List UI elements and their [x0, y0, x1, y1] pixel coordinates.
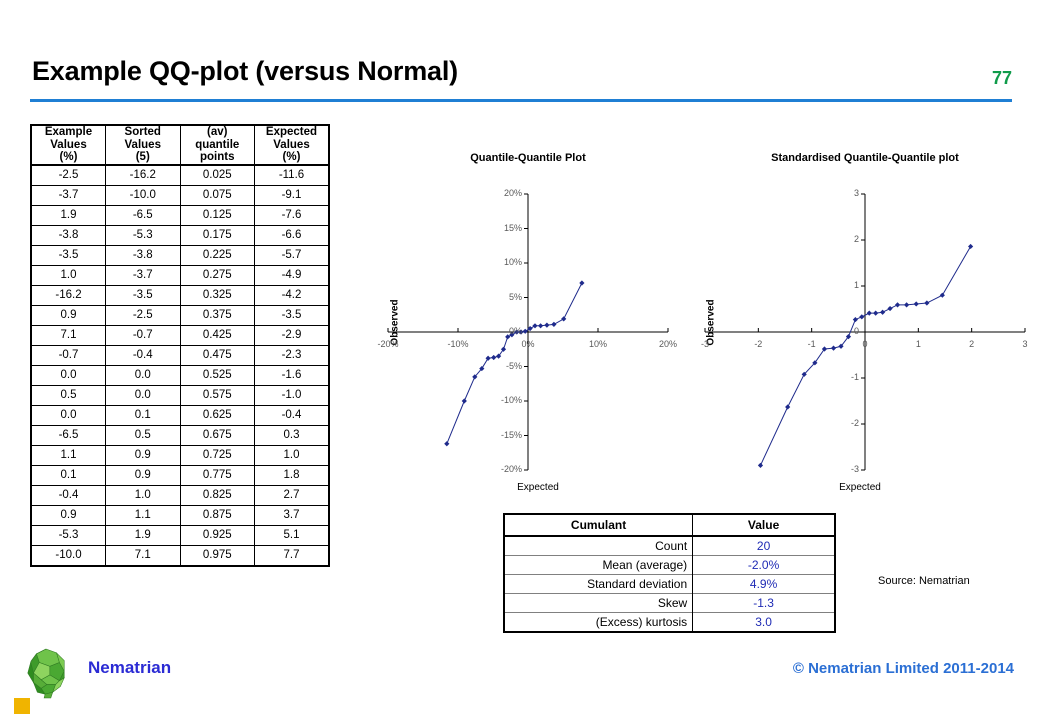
- data-point-marker: [462, 398, 467, 403]
- table-cell: -0.4: [106, 345, 181, 365]
- data-point-marker: [904, 302, 909, 307]
- table-cell: 0.825: [180, 485, 255, 505]
- table-cell: -4.9: [255, 265, 330, 285]
- footer-brand: Nematrian: [88, 658, 171, 678]
- cumulant-name: Skew: [504, 594, 693, 613]
- table-cell: 7.7: [255, 545, 330, 566]
- y-tick-label: 20%: [488, 188, 522, 198]
- y-tick-label: 1: [825, 280, 859, 290]
- table-row: 0.91.10.8753.7: [31, 505, 329, 525]
- table-cell: 0.725: [180, 445, 255, 465]
- x-tick-label: 0: [843, 339, 887, 349]
- source-note: Source: Nematrian: [878, 575, 970, 587]
- y-tick-label: 0%: [488, 326, 522, 336]
- data-point-marker: [444, 441, 449, 446]
- table-cell: -0.4: [255, 405, 330, 425]
- x-tick-label: 2: [950, 339, 994, 349]
- table-cell: 0.0: [31, 405, 106, 425]
- table-cell: 0.9: [31, 305, 106, 325]
- cumulant-row: Skew-1.3: [504, 594, 835, 613]
- cumulant-name: Standard deviation: [504, 575, 693, 594]
- table-cell: -9.1: [255, 185, 330, 205]
- data-point-marker: [532, 323, 537, 328]
- data-point-marker: [924, 300, 929, 305]
- table-cell: 0.025: [180, 165, 255, 186]
- table-cell: 1.1: [31, 445, 106, 465]
- table-row: 0.50.00.575-1.0: [31, 385, 329, 405]
- table-cell: -3.5: [255, 305, 330, 325]
- y-tick-label: 15%: [488, 223, 522, 233]
- table-cell: -2.5: [31, 165, 106, 186]
- table-cell: -3.5: [106, 285, 181, 305]
- data-point-marker: [491, 355, 496, 360]
- table-row: 0.00.10.625-0.4: [31, 405, 329, 425]
- table-row: -0.41.00.8252.7: [31, 485, 329, 505]
- column-header: SortedValues(5): [106, 125, 181, 165]
- table-cell: 1.0: [255, 445, 330, 465]
- table-row: -3.7-10.00.075-9.1: [31, 185, 329, 205]
- column-header: (av)quantilepoints: [180, 125, 255, 165]
- table-cell: -7.6: [255, 205, 330, 225]
- table-cell: -2.3: [255, 345, 330, 365]
- y-tick-label: 2: [825, 234, 859, 244]
- table-cell: 0.525: [180, 365, 255, 385]
- table-cell: 0.1: [106, 405, 181, 425]
- table-row: -5.31.90.9255.1: [31, 525, 329, 545]
- data-point-marker: [895, 302, 900, 307]
- data-point-marker: [551, 322, 556, 327]
- cumulant-value: -1.3: [693, 594, 835, 613]
- x-tick-label: -20%: [366, 339, 410, 349]
- y-tick-label: -5%: [488, 361, 522, 371]
- table-cell: 1.0: [106, 485, 181, 505]
- table-row: 1.0-3.70.275-4.9: [31, 265, 329, 285]
- table-cell: 0.475: [180, 345, 255, 365]
- table-cell: -0.7: [106, 325, 181, 345]
- x-tick-label: 0%: [506, 339, 550, 349]
- table-cell: 0.325: [180, 285, 255, 305]
- cumulant-row: (Excess) kurtosis3.0: [504, 613, 835, 633]
- table-row: 1.10.90.7251.0: [31, 445, 329, 465]
- table-cell: -5.7: [255, 245, 330, 265]
- table-cell: 0.1: [31, 465, 106, 485]
- table-cell: 0.075: [180, 185, 255, 205]
- table-row: 7.1-0.70.425-2.9: [31, 325, 329, 345]
- cumulant-header-name: Cumulant: [504, 514, 693, 536]
- cumulant-row: Mean (average)-2.0%: [504, 556, 835, 575]
- table-cell: 0.425: [180, 325, 255, 345]
- cumulant-header-value: Value: [693, 514, 835, 536]
- cumulant-header-row: Cumulant Value: [504, 514, 835, 536]
- data-point-marker: [867, 311, 872, 316]
- table-cell: 0.0: [106, 365, 181, 385]
- table-cell: -1.0: [255, 385, 330, 405]
- data-point-marker: [914, 301, 919, 306]
- data-point-marker: [968, 244, 973, 249]
- x-tick-label: 3: [1003, 339, 1040, 349]
- cumulant-name: Count: [504, 536, 693, 556]
- table-row: -0.7-0.40.475-2.3: [31, 345, 329, 365]
- table-cell: 0.775: [180, 465, 255, 485]
- table-cell: 1.1: [106, 505, 181, 525]
- table-row: -10.07.10.9757.7: [31, 545, 329, 566]
- table-cell: 2.7: [255, 485, 330, 505]
- data-point-marker: [561, 316, 566, 321]
- table-cell: 0.675: [180, 425, 255, 445]
- page-number: 77: [992, 68, 1012, 89]
- chart-plot-area: [378, 152, 678, 502]
- chart-plot-area: [700, 152, 1030, 502]
- table-cell: -10.0: [106, 185, 181, 205]
- table-cell: 7.1: [31, 325, 106, 345]
- table-cell: -5.3: [31, 525, 106, 545]
- data-point-marker: [579, 280, 584, 285]
- x-tick-label: -3: [683, 339, 727, 349]
- column-header: ExampleValues(%): [31, 125, 106, 165]
- data-point-marker: [859, 314, 864, 319]
- table-cell: 1.9: [106, 525, 181, 545]
- table-cell: 0.5: [31, 385, 106, 405]
- table-cell: 0.9: [106, 445, 181, 465]
- table-cell: -6.6: [255, 225, 330, 245]
- table-cell: -10.0: [31, 545, 106, 566]
- table-row: 0.10.90.7751.8: [31, 465, 329, 485]
- table-cell: -0.7: [31, 345, 106, 365]
- table-cell: 0.575: [180, 385, 255, 405]
- cumulant-summary-table: Cumulant Value Count20Mean (average)-2.0…: [503, 513, 836, 633]
- table-row: -2.5-16.20.025-11.6: [31, 165, 329, 186]
- table-cell: -5.3: [106, 225, 181, 245]
- table-cell: 0.375: [180, 305, 255, 325]
- table-cell: -3.5: [31, 245, 106, 265]
- table-row: 1.9-6.50.125-7.6: [31, 205, 329, 225]
- x-tick-label: -1: [790, 339, 834, 349]
- data-point-marker: [853, 317, 858, 322]
- cumulant-value: 20: [693, 536, 835, 556]
- table-cell: -16.2: [31, 285, 106, 305]
- cumulant-body: Count20Mean (average)-2.0%Standard devia…: [504, 536, 835, 632]
- table-cell: -2.9: [255, 325, 330, 345]
- x-tick-label: 10%: [576, 339, 620, 349]
- cumulant-name: Mean (average): [504, 556, 693, 575]
- data-point-marker: [887, 306, 892, 311]
- x-tick-label: -10%: [436, 339, 480, 349]
- data-point-marker: [538, 323, 543, 328]
- table-cell: -2.5: [106, 305, 181, 325]
- table-cell: 0.625: [180, 405, 255, 425]
- table-cell: 0.9: [106, 465, 181, 485]
- table-cell: -3.8: [31, 225, 106, 245]
- table-header-row: ExampleValues(%)SortedValues(5)(av)quant…: [31, 125, 329, 165]
- standardised-quantile-quantile-chart: Standardised Quantile-Quantile plot Obse…: [700, 152, 1030, 502]
- table-cell: 0.0: [31, 365, 106, 385]
- table-cell: 0.3: [255, 425, 330, 445]
- y-tick-label: 5%: [488, 292, 522, 302]
- nematrian-logo-icon: [22, 648, 70, 700]
- y-tick-label: 10%: [488, 257, 522, 267]
- cumulant-value: 4.9%: [693, 575, 835, 594]
- table-cell: -11.6: [255, 165, 330, 186]
- data-point-marker: [758, 463, 763, 468]
- data-point-marker: [880, 310, 885, 315]
- table-cell: -16.2: [106, 165, 181, 186]
- y-tick-label: -15%: [488, 430, 522, 440]
- table-cell: -6.5: [106, 205, 181, 225]
- table-cell: 0.275: [180, 265, 255, 285]
- table-cell: 0.875: [180, 505, 255, 525]
- x-tick-label: -2: [736, 339, 780, 349]
- table-cell: 0.125: [180, 205, 255, 225]
- page-title: Example QQ-plot (versus Normal): [32, 56, 458, 87]
- cumulant-name: (Excess) kurtosis: [504, 613, 693, 633]
- column-header: ExpectedValues(%): [255, 125, 330, 165]
- quantile-quantile-chart: Quantile-Quantile Plot Observed Expected…: [378, 152, 678, 502]
- y-tick-label: -1: [825, 372, 859, 382]
- y-tick-label: -10%: [488, 395, 522, 405]
- table-cell: 0.175: [180, 225, 255, 245]
- table-cell: 0.0: [106, 385, 181, 405]
- table-cell: -0.4: [31, 485, 106, 505]
- footer-accent-swatch: [14, 698, 30, 714]
- cumulant-row: Count20: [504, 536, 835, 556]
- y-tick-label: 3: [825, 188, 859, 198]
- table-cell: -4.2: [255, 285, 330, 305]
- data-point-marker: [785, 404, 790, 409]
- data-point-marker: [544, 323, 549, 328]
- table-row: -16.2-3.50.325-4.2: [31, 285, 329, 305]
- table-row: 0.00.00.525-1.6: [31, 365, 329, 385]
- table-cell: 1.9: [31, 205, 106, 225]
- cumulant-value: -2.0%: [693, 556, 835, 575]
- table-cell: -3.7: [31, 185, 106, 205]
- cumulant-row: Standard deviation4.9%: [504, 575, 835, 594]
- table-row: 0.9-2.50.375-3.5: [31, 305, 329, 325]
- cumulant-value: 3.0: [693, 613, 835, 633]
- table-row: -3.8-5.30.175-6.6: [31, 225, 329, 245]
- example-values-table: ExampleValues(%)SortedValues(5)(av)quant…: [30, 124, 330, 567]
- table-cell: -6.5: [31, 425, 106, 445]
- table-row: -6.50.50.6750.3: [31, 425, 329, 445]
- y-tick-label: -3: [825, 464, 859, 474]
- y-tick-label: -2: [825, 418, 859, 428]
- x-tick-label: 1: [896, 339, 940, 349]
- series-line: [760, 246, 970, 465]
- table-cell: 3.7: [255, 505, 330, 525]
- table-cell: 0.975: [180, 545, 255, 566]
- slide-canvas: Example QQ-plot (versus Normal) 77 Examp…: [0, 0, 1040, 720]
- y-tick-label: -20%: [488, 464, 522, 474]
- data-point-marker: [873, 311, 878, 316]
- table-cell: -3.8: [106, 245, 181, 265]
- data-point-marker: [940, 293, 945, 298]
- y-tick-label: 0: [825, 326, 859, 336]
- table-cell: 0.9: [31, 505, 106, 525]
- table-cell: 5.1: [255, 525, 330, 545]
- table-cell: 0.925: [180, 525, 255, 545]
- header-divider: [30, 99, 1012, 102]
- table-cell: 0.5: [106, 425, 181, 445]
- table-cell: 7.1: [106, 545, 181, 566]
- table-body: -2.5-16.20.025-11.6-3.7-10.00.075-9.11.9…: [31, 165, 329, 566]
- table-cell: -3.7: [106, 265, 181, 285]
- data-point-marker: [523, 329, 528, 334]
- table-row: -3.5-3.80.225-5.7: [31, 245, 329, 265]
- table-cell: 1.8: [255, 465, 330, 485]
- table-cell: -1.6: [255, 365, 330, 385]
- table-cell: 0.225: [180, 245, 255, 265]
- footer-copyright: © Nematrian Limited 2011-2014: [793, 660, 1014, 677]
- table-cell: 1.0: [31, 265, 106, 285]
